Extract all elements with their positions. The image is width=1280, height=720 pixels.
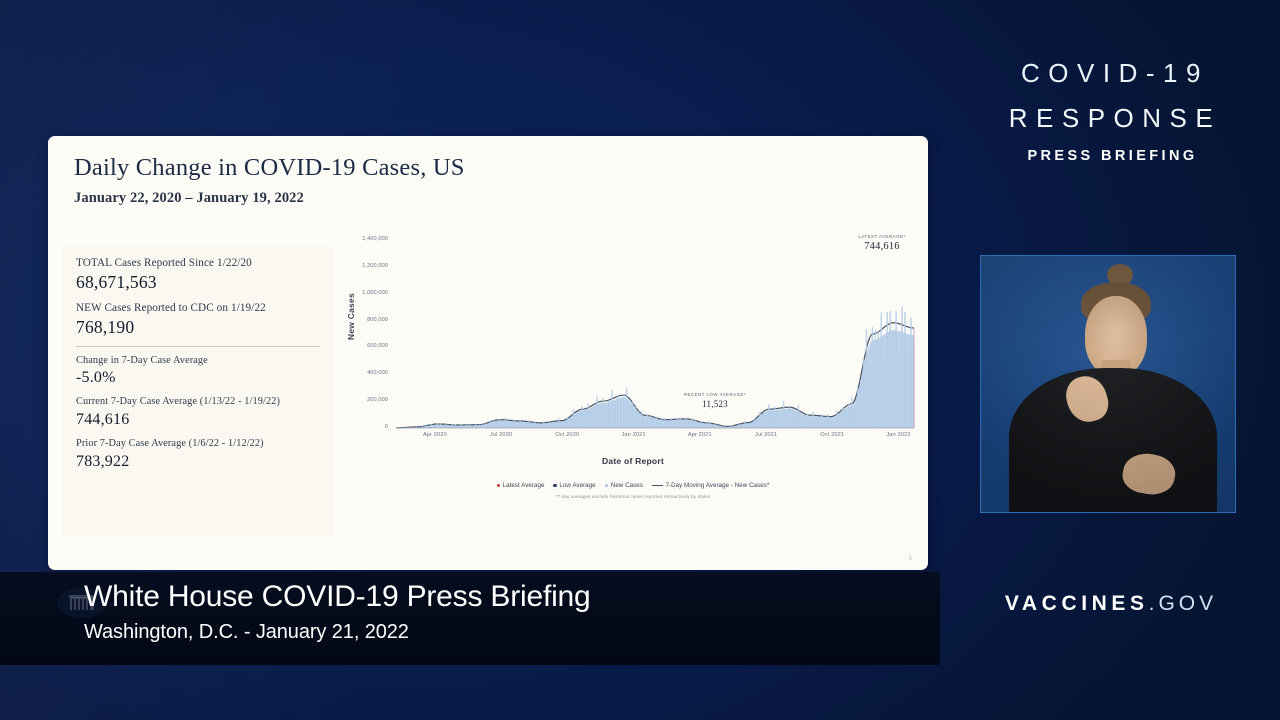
- new-cases-bar: [522, 421, 524, 428]
- new-cases-bar: [460, 425, 462, 428]
- chart-plot: [344, 232, 922, 460]
- new-cases-bar: [641, 411, 643, 428]
- stat-total-cases: TOTAL Cases Reported Since 1/22/20 68,67…: [76, 256, 320, 294]
- new-cases-bar: [662, 418, 664, 428]
- new-cases-bar: [558, 418, 560, 428]
- new-cases-bar: [904, 312, 906, 428]
- stat-value: 768,190: [76, 316, 320, 339]
- new-cases-bar: [454, 425, 456, 428]
- new-cases-bar: [508, 420, 510, 428]
- stat-current-7day-avg: Current 7-Day Case Average (1/13/22 - 1/…: [76, 396, 320, 431]
- new-cases-bar: [638, 411, 640, 428]
- new-cases-bar: [516, 422, 518, 428]
- banner-subtitle: Washington, D.C. - January 21, 2022: [84, 621, 409, 644]
- new-cases-bar: [795, 411, 797, 428]
- new-cases-bar: [907, 347, 909, 428]
- chart-x-axis-label: Date of Report: [344, 456, 922, 466]
- brand-line-response: RESPONSE: [955, 103, 1267, 134]
- new-cases-bar: [771, 411, 773, 428]
- new-cases-bar: [499, 419, 501, 428]
- new-cases-bar: [656, 417, 658, 428]
- new-cases-bar: [747, 423, 749, 428]
- new-cases-bar: [854, 407, 856, 428]
- new-cases-bar: [623, 395, 625, 428]
- new-cases-bar: [505, 418, 507, 428]
- legend-label: Latest Average: [503, 482, 545, 489]
- new-cases-bar: [617, 395, 619, 428]
- new-cases-bar: [602, 398, 604, 428]
- new-cases-bar: [762, 413, 764, 428]
- new-cases-bar: [866, 329, 868, 428]
- new-cases-bar: [886, 312, 888, 428]
- new-cases-bar: [818, 417, 820, 428]
- stat-value: 783,922: [76, 452, 320, 473]
- new-cases-bar: [667, 421, 669, 428]
- new-cases-bar: [599, 405, 601, 428]
- vaccines-label: VACCINES: [1005, 592, 1149, 615]
- vaccines-gov-watermark: VACCINES.GOV: [955, 592, 1267, 616]
- stat-label: Change in 7-Day Case Average: [76, 355, 320, 368]
- new-cases-bar: [664, 418, 666, 428]
- new-cases-bar: [733, 426, 735, 428]
- new-cases-bar: [673, 421, 675, 428]
- new-cases-bar: [514, 420, 516, 428]
- stat-new-cases: NEW Cases Reported to CDC on 1/19/22 768…: [76, 301, 320, 339]
- new-cases-bar: [836, 410, 838, 428]
- new-cases-bar: [434, 425, 436, 428]
- new-cases-bar: [697, 423, 699, 428]
- new-cases-bar: [756, 418, 758, 428]
- new-cases-bar: [445, 424, 447, 428]
- new-cases-bar: [570, 417, 572, 428]
- daily-new-cases-bars: [395, 306, 915, 428]
- new-cases-bar: [585, 411, 587, 428]
- new-cases-bar: [780, 412, 782, 428]
- new-cases-bar: [783, 401, 785, 428]
- x-tick-label: Apr 2020: [409, 432, 461, 438]
- new-cases-bar: [576, 415, 578, 428]
- new-cases-bar: [487, 424, 489, 428]
- new-cases-bar: [738, 424, 740, 428]
- new-cases-bar: [635, 407, 637, 428]
- lower-third-banner: White House COVID-19 Press Briefing Wash…: [0, 572, 940, 665]
- legend-label: Low Average: [559, 482, 595, 489]
- video-vignette: [981, 256, 1235, 512]
- new-cases-bar: [564, 421, 566, 428]
- new-cases-bar: [593, 406, 595, 428]
- new-cases-bar: [588, 403, 590, 428]
- new-cases-bar: [863, 359, 865, 428]
- new-cases-bar: [431, 424, 433, 428]
- y-tick-label: 1,200,000: [344, 263, 388, 269]
- new-cases-bar: [792, 408, 794, 428]
- y-tick-label: 1,000,000: [344, 290, 388, 296]
- new-cases-bar: [898, 354, 900, 429]
- new-cases-bar: [685, 418, 687, 428]
- legend-dot-icon: [553, 484, 556, 487]
- new-cases-bar: [605, 406, 607, 428]
- new-cases-bar: [741, 424, 743, 428]
- new-cases-bar: [608, 401, 610, 428]
- new-cases-bar: [901, 306, 903, 428]
- new-cases-bar: [889, 311, 891, 428]
- new-cases-bar: [573, 409, 575, 428]
- new-cases-bar: [567, 418, 569, 428]
- statistics-panel: TOTAL Cases Reported Since 1/22/20 68,67…: [62, 246, 334, 536]
- new-cases-bar: [466, 425, 468, 428]
- x-tick-label: Jan 2021: [608, 432, 660, 438]
- new-cases-bar: [807, 414, 809, 428]
- cases-chart: New Cases 0200,000400,000600,000800,0001…: [344, 232, 922, 508]
- new-cases-bar: [845, 410, 847, 428]
- legend-item-moving-average: 7-Day Moving Average - New Cases*: [652, 482, 769, 489]
- new-cases-bar: [875, 330, 877, 428]
- new-cases-bar: [709, 423, 711, 428]
- x-tick-label: Jan 2022: [872, 432, 924, 438]
- new-cases-bar: [872, 327, 874, 428]
- new-cases-bar: [700, 421, 702, 428]
- new-cases-bar: [644, 419, 646, 428]
- new-cases-bar: [860, 380, 862, 428]
- new-cases-bar: [582, 406, 584, 428]
- new-cases-bar: [815, 419, 817, 428]
- new-cases-bar: [682, 421, 684, 428]
- new-cases-bar: [895, 311, 897, 428]
- new-cases-bar: [730, 426, 732, 428]
- branding-block: COVID-19 RESPONSE PRESS BRIEFING: [955, 58, 1267, 164]
- annotation-caption: RECENT LOW AVERAGE*: [660, 392, 770, 398]
- new-cases-bar: [442, 425, 444, 428]
- legend-label: 7-Day Moving Average - New Cases*: [665, 482, 769, 489]
- new-cases-bar: [653, 418, 655, 428]
- new-cases-bar: [440, 423, 442, 428]
- annotation-value: 744,616: [822, 241, 928, 252]
- y-tick-label: 1,400,000: [344, 236, 388, 242]
- new-cases-bar: [478, 425, 480, 428]
- annotation-value: 11,523: [660, 399, 770, 409]
- new-cases-bar: [821, 414, 823, 428]
- y-tick-label: 200,000: [344, 397, 388, 403]
- new-cases-bar: [679, 418, 681, 428]
- new-cases-bar: [528, 420, 530, 428]
- new-cases-bar: [490, 420, 492, 428]
- stats-divider: [76, 346, 320, 347]
- new-cases-bar: [632, 402, 634, 428]
- banner-title: White House COVID-19 Press Briefing: [84, 580, 591, 614]
- y-tick-label: 800,000: [344, 317, 388, 323]
- new-cases-bar: [786, 410, 788, 428]
- new-cases-bar: [706, 423, 708, 428]
- new-cases-bar: [519, 419, 521, 428]
- x-tick-label: Jul 2020: [475, 432, 527, 438]
- new-cases-bar: [830, 419, 832, 428]
- new-cases-bar: [715, 423, 717, 428]
- new-cases-bar: [496, 421, 498, 428]
- annotation-recent-low-average: RECENT LOW AVERAGE* 11,523: [660, 392, 770, 409]
- new-cases-bar: [842, 407, 844, 428]
- new-cases-bar: [531, 423, 533, 428]
- slide-subtitle: January 22, 2020 – January 19, 2022: [74, 190, 304, 207]
- new-cases-bar: [750, 423, 752, 428]
- new-cases-bar: [650, 415, 652, 428]
- new-cases-bar: [848, 404, 850, 428]
- annotation-latest-average: LATEST AVERAGE* 744,616: [822, 234, 928, 252]
- stat-value: 744,616: [76, 410, 320, 431]
- new-cases-bar: [878, 332, 880, 428]
- new-cases-bar: [718, 425, 720, 428]
- new-cases-bar: [694, 420, 696, 428]
- new-cases-bar: [839, 414, 841, 428]
- new-cases-bar: [448, 425, 450, 428]
- new-cases-bar: [736, 425, 738, 428]
- stat-prior-7day-avg: Prior 7-Day Case Average (1/6/22 - 1/12/…: [76, 438, 320, 473]
- legend-item-low-average: Low Average: [553, 482, 595, 489]
- new-cases-bar: [703, 423, 705, 428]
- new-cases-bar: [881, 313, 883, 428]
- new-cases-bar: [857, 388, 859, 428]
- new-cases-bar: [537, 423, 539, 428]
- legend-line-icon: [652, 485, 663, 486]
- broadcast-stage: Daily Change in COVID-19 Cases, US Janua…: [0, 0, 1280, 720]
- new-cases-bar: [676, 418, 678, 428]
- new-cases-bar: [469, 424, 471, 428]
- new-cases-bar: [810, 416, 812, 428]
- x-tick-label: Oct 2021: [806, 432, 858, 438]
- new-cases-bar: [451, 424, 453, 428]
- legend-item-new-cases: New Cases: [605, 482, 643, 489]
- new-cases-bar: [540, 424, 542, 428]
- chart-footnote: *7-day averages exclude historical cases…: [344, 494, 922, 499]
- y-tick-label: 600,000: [344, 343, 388, 349]
- legend-item-latest-average: Latest Average: [497, 482, 545, 489]
- new-cases-bar: [777, 410, 779, 428]
- stat-label: Prior 7-Day Case Average (1/6/22 - 1/12/…: [76, 438, 320, 451]
- new-cases-bar: [824, 417, 826, 428]
- stat-value: 68,671,563: [76, 271, 320, 294]
- stat-label: NEW Cases Reported to CDC on 1/19/22: [76, 301, 320, 315]
- stat-label: TOTAL Cases Reported Since 1/22/20: [76, 256, 320, 270]
- new-cases-bar: [801, 415, 803, 428]
- new-cases-bar: [620, 399, 622, 428]
- new-cases-bar: [511, 422, 513, 428]
- new-cases-bar: [555, 422, 557, 428]
- new-cases-bar: [833, 416, 835, 428]
- y-tick-label: 400,000: [344, 370, 388, 376]
- brand-line-press-briefing: PRESS BRIEFING: [955, 148, 1267, 164]
- stat-value: -5.0%: [76, 368, 320, 389]
- new-cases-bar: [851, 397, 853, 428]
- new-cases-bar: [789, 407, 791, 428]
- new-cases-bar: [798, 404, 800, 428]
- new-cases-bar: [525, 423, 527, 428]
- stat-label: Current 7-Day Case Average (1/13/22 - 1/…: [76, 396, 320, 409]
- new-cases-bar: [691, 418, 693, 428]
- new-cases-bar: [534, 422, 536, 428]
- chart-legend: Latest Average Low Average New Cases 7-D…: [344, 482, 922, 489]
- new-cases-bar: [590, 411, 592, 428]
- new-cases-bar: [774, 407, 776, 428]
- new-cases-bar: [659, 422, 661, 428]
- asl-interpreter-video[interactable]: [980, 255, 1236, 513]
- new-cases-bar: [629, 407, 631, 428]
- new-cases-bar: [484, 423, 486, 428]
- y-tick-label: 0: [344, 424, 388, 430]
- new-cases-bar: [712, 425, 714, 428]
- new-cases-bar: [502, 421, 504, 428]
- new-cases-bar: [614, 404, 616, 428]
- new-cases-bar: [626, 387, 628, 428]
- new-cases-bar: [428, 426, 430, 428]
- brand-line-covid19: COVID-19: [955, 58, 1267, 89]
- new-cases-bar: [549, 422, 551, 428]
- new-cases-bar: [892, 332, 894, 428]
- legend-square-icon: [605, 484, 609, 488]
- new-cases-bar: [869, 366, 871, 428]
- new-cases-bar: [753, 419, 755, 428]
- new-cases-bar: [910, 318, 912, 428]
- legend-dot-icon: [497, 484, 500, 487]
- new-cases-bar: [804, 415, 806, 428]
- new-cases-bar: [543, 421, 545, 428]
- new-cases-bar: [670, 419, 672, 428]
- vaccines-tld-label: .GOV: [1149, 592, 1218, 615]
- new-cases-bar: [481, 424, 483, 428]
- x-tick-label: Apr 2021: [674, 432, 726, 438]
- new-cases-bar: [475, 424, 477, 428]
- new-cases-bar: [744, 421, 746, 428]
- new-cases-bar: [425, 425, 427, 428]
- new-cases-bar: [759, 412, 761, 428]
- new-cases-bar: [688, 420, 690, 428]
- slide-title: Daily Change in COVID-19 Cases, US: [74, 154, 465, 182]
- new-cases-bar: [647, 415, 649, 428]
- new-cases-bar: [884, 361, 886, 428]
- new-cases-bar: [552, 422, 554, 428]
- new-cases-bar: [437, 423, 439, 428]
- new-cases-bar: [812, 412, 814, 428]
- new-cases-bar: [546, 423, 548, 428]
- new-cases-bar: [827, 414, 829, 428]
- annotation-caption: LATEST AVERAGE*: [822, 234, 928, 240]
- stat-change-7day: Change in 7-Day Case Average -5.0%: [76, 355, 320, 390]
- new-cases-bar: [765, 414, 767, 428]
- new-cases-bar: [596, 396, 598, 428]
- new-cases-bar: [611, 390, 613, 428]
- new-cases-bar: [463, 425, 465, 428]
- presentation-slide: Daily Change in COVID-19 Cases, US Janua…: [48, 136, 928, 570]
- new-cases-bar: [561, 422, 563, 428]
- new-cases-bar: [493, 420, 495, 428]
- x-tick-label: Oct 2020: [541, 432, 593, 438]
- legend-label: New Cases: [611, 482, 643, 489]
- new-cases-bar: [579, 412, 581, 428]
- slide-page-number: 5: [909, 556, 912, 562]
- x-tick-label: Jul 2021: [740, 432, 792, 438]
